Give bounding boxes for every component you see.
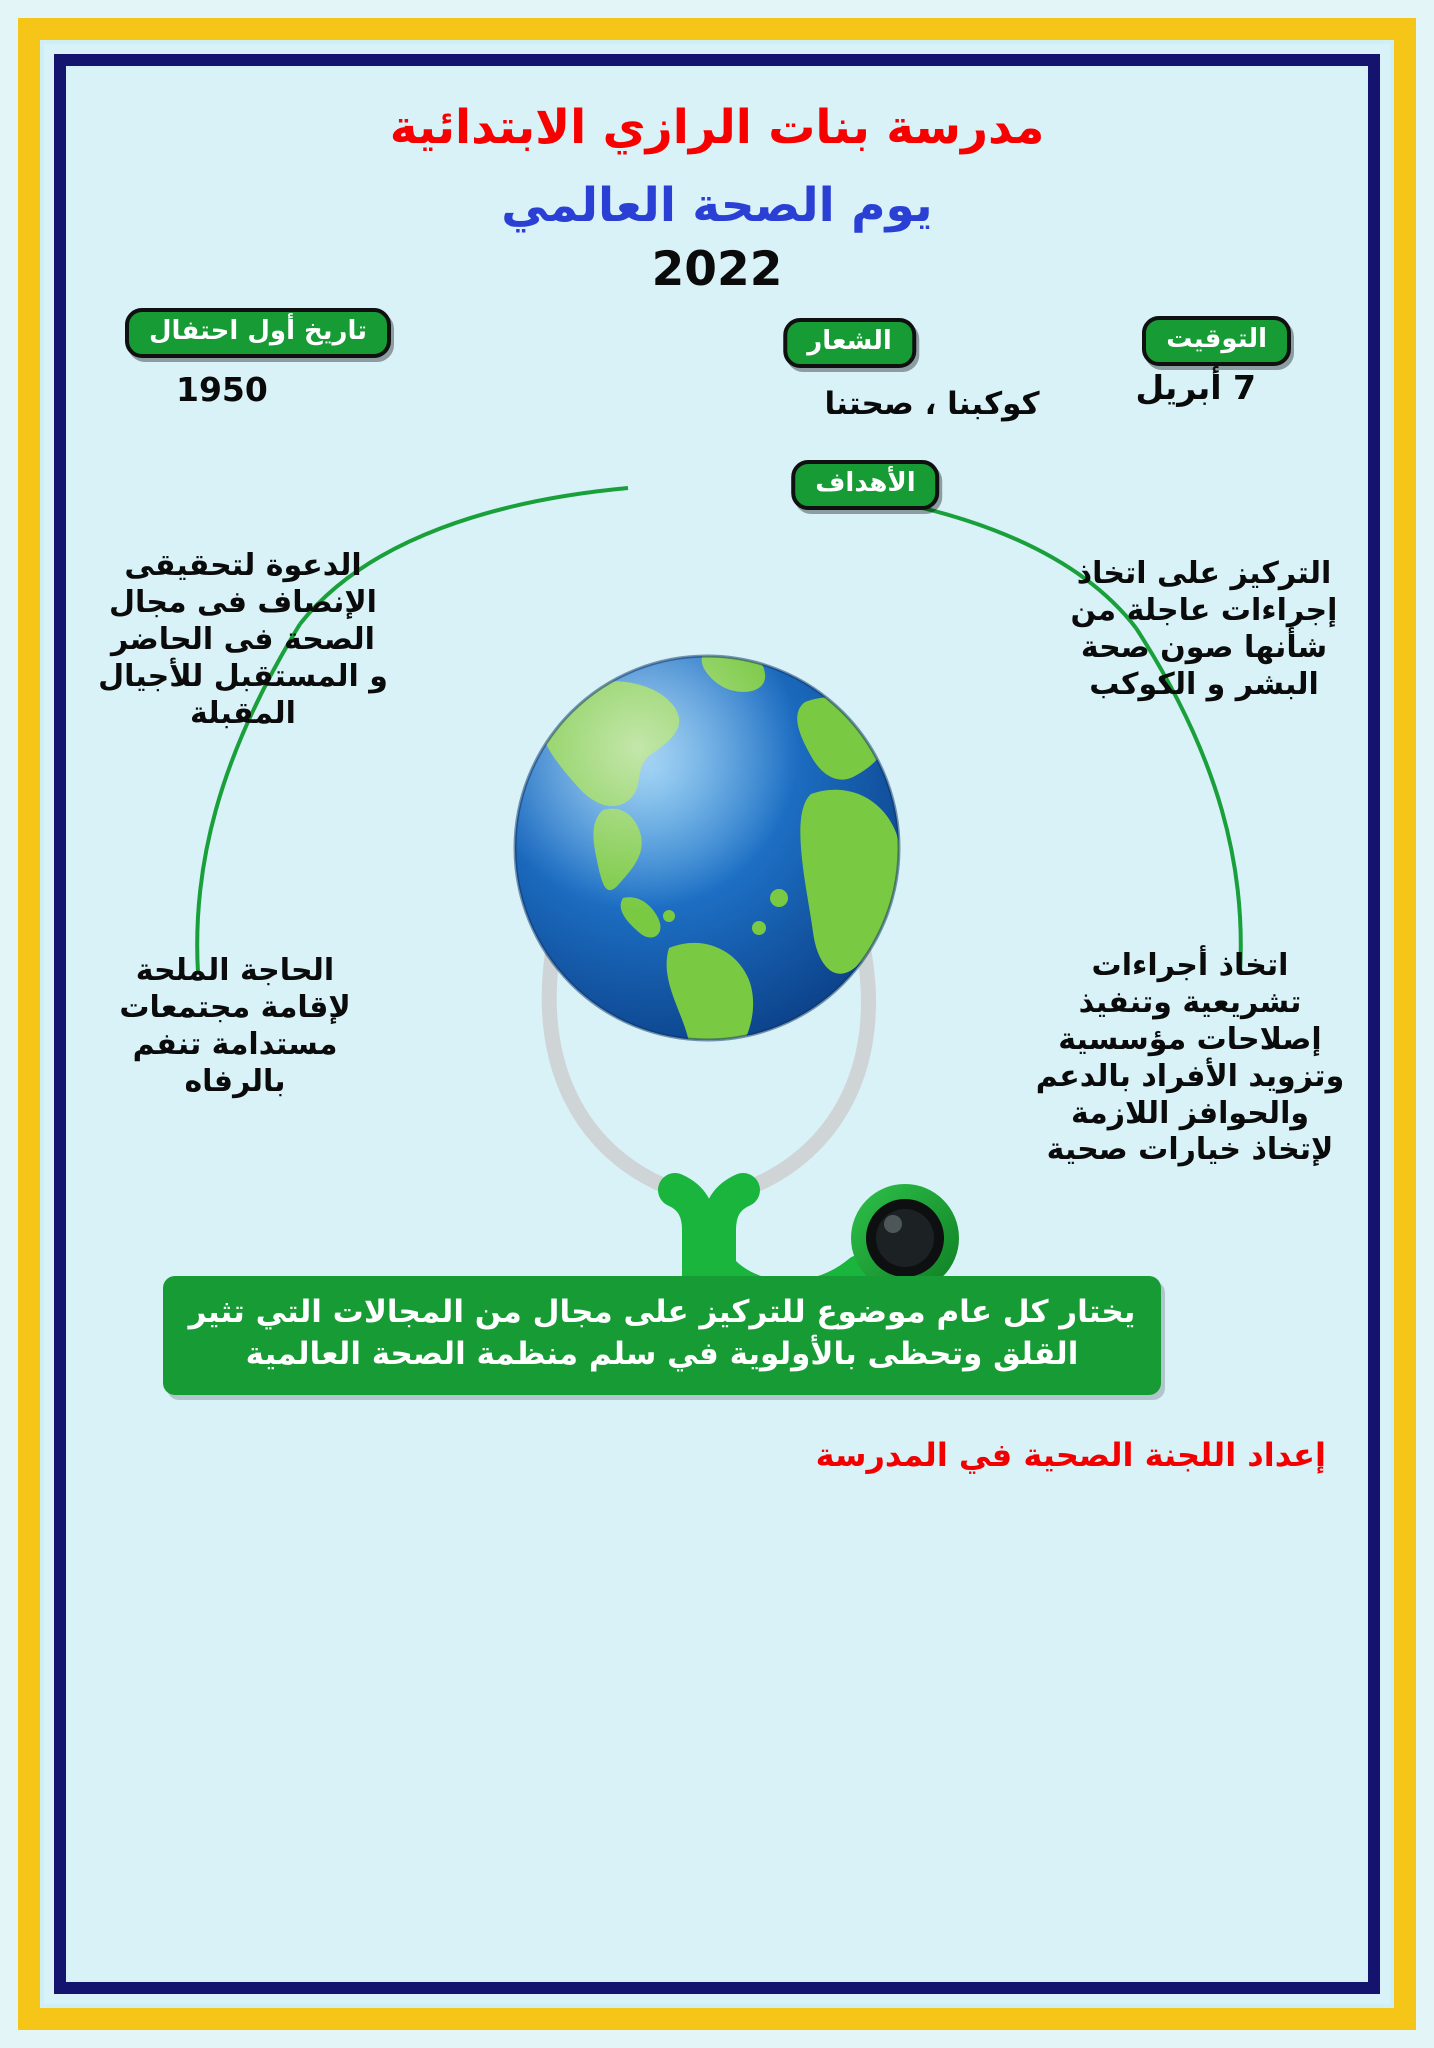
school-title: مدرسة بنات الرازي الابتدائية (68, 100, 1366, 155)
badge-first-celebration: تاريخ أول احتفال (125, 308, 391, 358)
badge-timing: التوقيت (1142, 316, 1291, 366)
poster-content: مدرسة بنات الرازي الابتدائية يوم الصحة ا… (68, 68, 1366, 1980)
earth-globe-icon (515, 647, 947, 1078)
value-first-celebration: 1950 (176, 370, 268, 409)
badge-goals: الأهداف (791, 460, 939, 510)
goal-top-right: التركيز على اتخاذ إجراءات عاجلة من شأنها… (1064, 556, 1344, 704)
goal-bottom-left: الحاجة الملحة لإقامة مجتمعات مستدامة تنف… (90, 953, 380, 1101)
value-slogan: كوكبنا ، صحتنا (825, 386, 1040, 422)
globe-stethoscope-illustration (407, 598, 1027, 1298)
event-title: يوم الصحة العالمي (68, 178, 1366, 233)
theme-banner: يختار كل عام موضوع للتركيز على مجال من ا… (163, 1276, 1161, 1395)
goal-top-left: الدعوة لتحقيقى الإنصاف فى مجال الصحة فى … (98, 548, 388, 732)
event-year: 2022 (68, 242, 1366, 297)
badge-slogan: الشعار (783, 318, 916, 368)
value-timing: 7 أبريل (1135, 368, 1256, 407)
poster-root: مدرسة بنات الرازي الابتدائية يوم الصحة ا… (0, 0, 1434, 2048)
credit-line: إعداد اللجنة الصحية في المدرسة (816, 1436, 1326, 1474)
goal-bottom-right: اتخاذ أجراءات تشريعية وتنفيذ إصلاحات مؤس… (1034, 948, 1346, 1169)
